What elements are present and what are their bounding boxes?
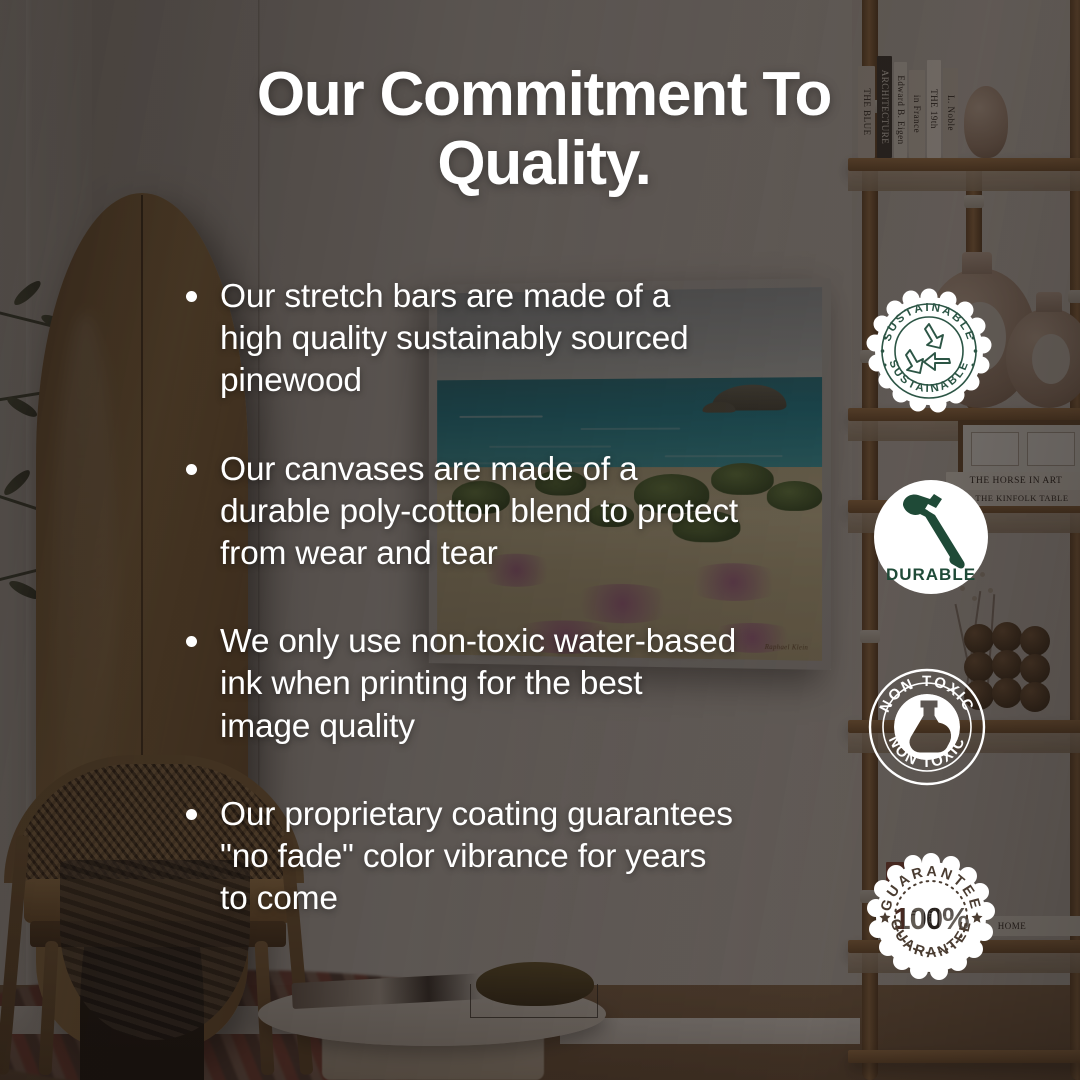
headline-line-1: Our Commitment To xyxy=(257,60,831,129)
list-item: Our canvases are made of a durable poly-… xyxy=(180,449,740,576)
list-item: We only use non-toxic water-based ink wh… xyxy=(180,621,740,748)
list-item: Our proprietary coating guarantees "no f… xyxy=(180,794,740,921)
bullet-dot-icon xyxy=(186,464,197,475)
badge-durable-label: DURABLE xyxy=(886,565,976,584)
badge-sustainable: SUSTAINABLE SUSTAINABLE xyxy=(866,288,992,414)
page-title: Our Commitment To Quality. xyxy=(104,60,984,199)
list-item: Our stretch bars are made of a high qual… xyxy=(180,276,740,403)
bullet-text: We only use non-toxic water-based ink wh… xyxy=(220,623,736,744)
bullet-text: Our stretch bars are made of a high qual… xyxy=(220,278,688,399)
promo-graphic: Raphael Klein xyxy=(0,0,1080,1080)
promo-content: Our Commitment To Quality. Our stretch b… xyxy=(0,0,1080,1080)
bullet-dot-icon xyxy=(186,809,197,820)
bullet-dot-icon xyxy=(186,291,197,302)
headline-line-2: Quality. xyxy=(437,129,650,198)
bullet-text: Our proprietary coating guarantees "no f… xyxy=(220,796,733,917)
badge-durable: DURABLE xyxy=(872,478,990,596)
quality-bullet-list: Our stretch bars are made of a high qual… xyxy=(180,276,740,920)
badge-non-toxic: NON TOXIC NON TOXIC xyxy=(864,664,990,790)
badge-guarantee: 100% xyxy=(866,852,996,982)
bullet-dot-icon xyxy=(186,636,197,647)
bullet-text: Our canvases are made of a durable poly-… xyxy=(220,451,738,572)
